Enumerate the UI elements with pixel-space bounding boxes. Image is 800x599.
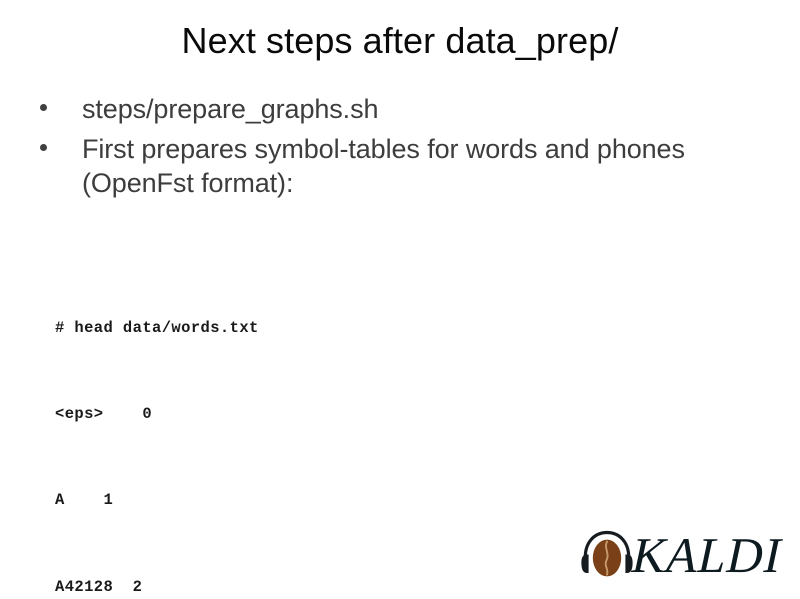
kaldi-wordmark: KALDI — [631, 529, 782, 581]
code-line: A42128 2 — [55, 573, 268, 599]
list-item: steps/prepare_graphs.sh — [34, 92, 734, 126]
bullet-dot-icon — [34, 92, 82, 126]
code-line: # head data/words.txt — [55, 314, 268, 343]
page-title: Next steps after data_prep/ — [0, 18, 800, 64]
coffee-bean-headphones-icon — [578, 526, 636, 584]
kaldi-logo: KALDI — [578, 524, 790, 586]
slide-canvas: Next steps after data_prep/ steps/prepar… — [0, 0, 800, 599]
list-item-label: First prepares symbol-tables for words a… — [82, 132, 707, 200]
code-block: # head data/words.txt <eps> 0 A 1 A42128… — [55, 256, 268, 599]
code-line: <eps> 0 — [55, 400, 268, 429]
list-item: First prepares symbol-tables for words a… — [34, 132, 734, 200]
list-item-label: steps/prepare_graphs.sh — [82, 92, 734, 126]
bullet-list: steps/prepare_graphs.sh First prepares s… — [34, 92, 734, 206]
bullet-dot-icon — [34, 132, 82, 166]
code-line: A 1 — [55, 486, 268, 515]
